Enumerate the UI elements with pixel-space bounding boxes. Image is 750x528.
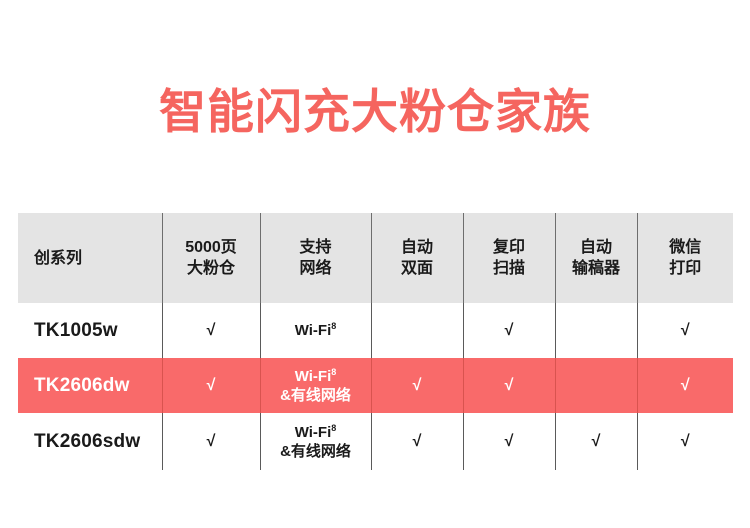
column-header-adf: 自动 输稿器 — [555, 213, 637, 303]
cell-copy-scan: √ — [463, 358, 555, 413]
cell-model: TK1005w — [18, 303, 162, 358]
column-header-big-toner: 5000页 大粉仓 — [162, 213, 260, 303]
product-comparison-table: 创系列 5000页 大粉仓 支持 网络 自动 双面 复印 扫描 自动 输稿器 — [18, 213, 733, 470]
page-title: 智能闪充大粉仓家族 — [0, 84, 750, 140]
column-header-series: 创系列 — [18, 213, 162, 303]
cell-copy-scan: √ — [463, 303, 555, 358]
cell-network: Wi-Fi8 — [260, 303, 371, 358]
column-header-wechat-print: 微信 打印 — [637, 213, 733, 303]
cell-adf — [555, 358, 637, 413]
column-header-network-line1: 支持 — [261, 237, 371, 258]
column-header-network-line2: 网络 — [261, 258, 371, 279]
column-header-duplex-line1: 自动 — [372, 237, 463, 258]
check-icon: √ — [681, 321, 690, 340]
cell-model: TK2606dw — [18, 358, 162, 413]
column-header-duplex-line2: 双面 — [372, 258, 463, 279]
column-header-series-line1: 创系列 — [34, 248, 162, 269]
cell-model: TK2606sdw — [18, 413, 162, 470]
table-header-row: 创系列 5000页 大粉仓 支持 网络 自动 双面 复印 扫描 自动 输稿器 — [18, 213, 733, 303]
cell-wechat-print: √ — [637, 413, 733, 470]
network-label: Wi-Fi8 — [261, 367, 371, 386]
network-label-line2: &有线网络 — [261, 442, 371, 461]
cell-duplex — [371, 303, 463, 358]
cell-adf: √ — [555, 413, 637, 470]
network-label-line2: &有线网络 — [261, 386, 371, 405]
column-header-wechat-print-line2: 打印 — [638, 258, 734, 279]
check-icon: √ — [505, 321, 514, 340]
network-footnote: 8 — [331, 367, 336, 377]
column-header-copy-scan: 复印 扫描 — [463, 213, 555, 303]
check-icon: √ — [207, 376, 216, 395]
column-header-copy-scan-line2: 扫描 — [464, 258, 555, 279]
column-header-duplex: 自动 双面 — [371, 213, 463, 303]
network-label: Wi-Fi8 — [261, 423, 371, 442]
cell-wechat-print: √ — [637, 303, 733, 358]
cell-duplex: √ — [371, 358, 463, 413]
cell-big-toner: √ — [162, 358, 260, 413]
check-icon: √ — [413, 376, 422, 395]
network-text: Wi-Fi — [295, 322, 332, 339]
table-row: TK1005w √ Wi-Fi8 √ √ — [18, 303, 733, 358]
network-text: Wi-Fi — [295, 424, 332, 441]
column-header-big-toner-line2: 大粉仓 — [163, 258, 260, 279]
check-icon: √ — [681, 376, 690, 395]
check-icon: √ — [207, 321, 216, 340]
cell-network: Wi-Fi8 &有线网络 — [260, 413, 371, 470]
network-label: Wi-Fi8 — [261, 321, 371, 340]
table-row-highlighted: TK2606dw √ Wi-Fi8 &有线网络 √ √ √ — [18, 358, 733, 413]
check-icon: √ — [413, 432, 422, 451]
check-icon: √ — [681, 432, 690, 451]
column-header-network: 支持 网络 — [260, 213, 371, 303]
check-icon: √ — [505, 376, 514, 395]
cell-big-toner: √ — [162, 413, 260, 470]
column-header-wechat-print-line1: 微信 — [638, 237, 734, 258]
column-header-adf-line1: 自动 — [556, 237, 637, 258]
cell-duplex: √ — [371, 413, 463, 470]
cell-network: Wi-Fi8 &有线网络 — [260, 358, 371, 413]
check-icon: √ — [207, 432, 216, 451]
cell-wechat-print: √ — [637, 358, 733, 413]
cell-copy-scan: √ — [463, 413, 555, 470]
check-icon: √ — [505, 432, 514, 451]
check-icon: √ — [592, 432, 601, 451]
column-header-big-toner-line1: 5000页 — [163, 237, 260, 258]
network-footnote: 8 — [331, 321, 336, 331]
column-header-copy-scan-line1: 复印 — [464, 237, 555, 258]
table-row: TK2606sdw √ Wi-Fi8 &有线网络 √ √ √ √ — [18, 413, 733, 470]
column-header-adf-line2: 输稿器 — [556, 258, 637, 279]
cell-adf — [555, 303, 637, 358]
cell-big-toner: √ — [162, 303, 260, 358]
network-footnote: 8 — [331, 423, 336, 433]
network-text: Wi-Fi — [295, 368, 332, 385]
